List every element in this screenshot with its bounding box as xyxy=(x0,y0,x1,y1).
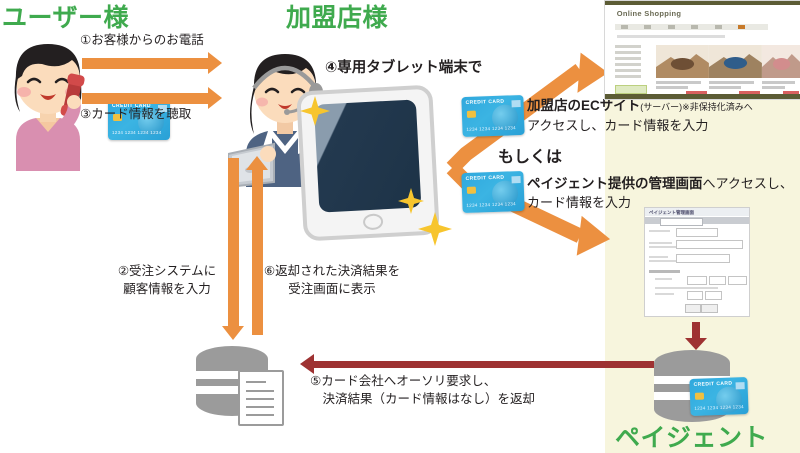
arrow-admin-to-payjent-db xyxy=(692,322,700,338)
step-3-label: ③カード情報を聴取 xyxy=(80,105,191,123)
admin-field-6[interactable] xyxy=(728,276,747,285)
ec-site-topbar xyxy=(605,1,800,5)
card-number-3: 1234 1234 1234 1234 xyxy=(466,201,516,208)
arrow-step-5 xyxy=(314,361,654,368)
admin-tab-selected[interactable] xyxy=(660,218,704,226)
ec-nav-item-5[interactable] xyxy=(715,25,722,29)
tablet-home-button[interactable] xyxy=(363,213,384,230)
admin-field-2[interactable] xyxy=(676,240,742,249)
ec-product-image-1 xyxy=(656,45,709,78)
sparkle-icon-1 xyxy=(300,96,330,131)
admin-submit-button[interactable] xyxy=(685,304,702,313)
option-b-bold: ペイジェント提供の管理画面 xyxy=(527,176,703,191)
ec-site-title: Online Shopping xyxy=(617,9,682,18)
ec-site-footer xyxy=(605,94,800,99)
diagram-canvas: ユーザー様 加盟店様 ペイジェント xyxy=(0,0,800,453)
ec-sidebar xyxy=(615,45,648,97)
ec-breadcrumb xyxy=(617,35,725,38)
ec-sidebar-button[interactable] xyxy=(615,85,648,94)
admin-field-3[interactable] xyxy=(676,254,730,263)
or-label: もしくは xyxy=(498,146,562,169)
ec-nav-item-6[interactable] xyxy=(738,25,745,29)
card-number: 1234 1234 1234 1234 xyxy=(112,130,162,135)
credit-card-icon-3: CREDIT CARD 1234 1234 1234 1234 xyxy=(461,171,524,213)
admin-field-5[interactable] xyxy=(709,276,726,285)
card-hologram-3 xyxy=(511,176,520,183)
option-a-bold: 加盟店のECサイト xyxy=(527,98,640,113)
card-hologram-2 xyxy=(511,100,520,107)
credit-card-icon-4: CREDIT CARD 1234 1234 1234 1234 xyxy=(689,377,748,416)
option-a-rest: アクセスし、カード情報を入力 xyxy=(527,117,800,136)
page-title-merchant: 加盟店様 xyxy=(286,0,388,34)
ec-site-screenshot[interactable]: Online Shopping xyxy=(604,0,800,100)
card-hologram-4 xyxy=(736,382,745,389)
step-1-label: ①お客様からのお電話 xyxy=(80,31,204,49)
card-chip-3 xyxy=(467,187,476,194)
payjent-admin-screenshot[interactable]: ペイジェント管理画面 xyxy=(644,207,750,317)
page-title-payjent: ペイジェント xyxy=(615,418,768,453)
ec-nav-item-4[interactable] xyxy=(691,25,698,29)
ec-product-image-2 xyxy=(709,45,762,78)
card-number-2: 1234 1234 1234 1234 xyxy=(466,125,516,132)
option-a-note: (サーバー)※非保持化済みへ xyxy=(640,102,752,112)
admin-field-1[interactable] xyxy=(676,228,718,237)
ec-nav-item-3[interactable] xyxy=(668,25,675,29)
arrow-step-6 xyxy=(252,170,263,335)
card-chip-2 xyxy=(467,111,476,118)
step-2-label: ②受注システムに 顧客情報を入力 xyxy=(112,262,222,298)
credit-card-icon-2: CREDIT CARD 1234 1234 1234 1234 xyxy=(461,95,524,137)
admin-cancel-button[interactable] xyxy=(701,304,718,313)
order-document-icon xyxy=(238,370,284,426)
arrow-step-3 xyxy=(82,93,208,104)
option-a-text-block: 加盟店のECサイト(サーバー)※非保持化済みへ アクセスし、カード情報を入力 xyxy=(527,96,800,135)
ec-product-image-3 xyxy=(762,45,800,78)
card-chip-4 xyxy=(695,393,704,400)
admin-field-7[interactable] xyxy=(687,291,704,300)
step-5-label: ⑤カード会社へオーソリ要求し、 決済結果（カード情報はなし）を返却 xyxy=(310,372,535,408)
ec-nav-item-2[interactable] xyxy=(644,25,651,29)
page-title-user: ユーザー様 xyxy=(2,0,129,34)
admin-field-4[interactable] xyxy=(687,276,708,285)
customer-illustration xyxy=(2,36,94,171)
arrow-step-2 xyxy=(228,158,239,326)
admin-field-8[interactable] xyxy=(705,291,722,300)
admin-title: ペイジェント管理画面 xyxy=(649,210,694,216)
ec-nav-item-1[interactable] xyxy=(621,25,628,29)
arrow-step-1 xyxy=(82,58,208,69)
step-6-label: ⑥返却された決済結果を 受注画面に表示 xyxy=(262,262,402,298)
